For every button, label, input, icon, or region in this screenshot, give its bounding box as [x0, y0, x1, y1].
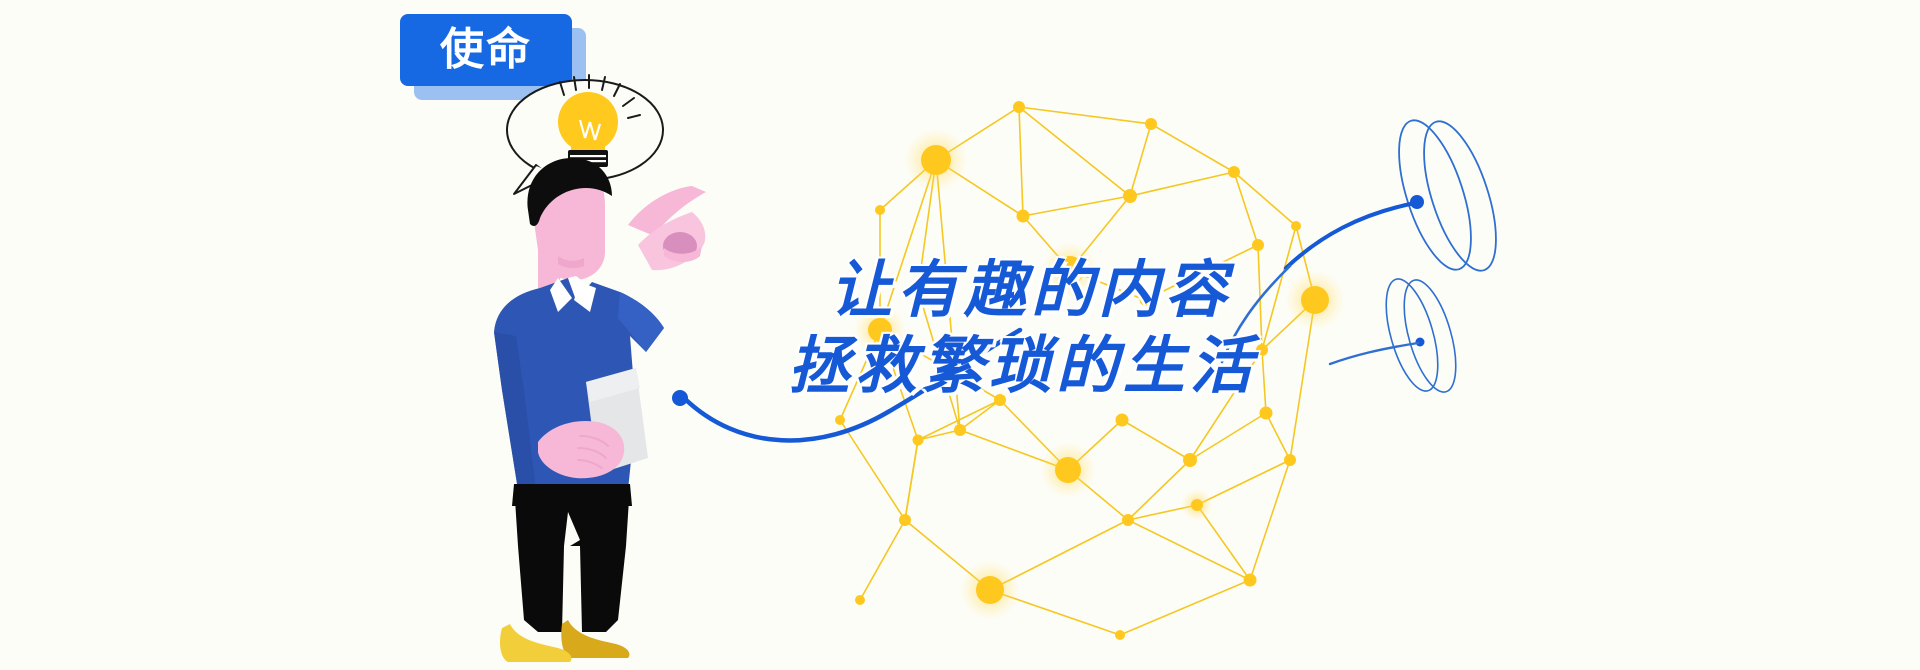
trousers — [512, 484, 632, 632]
pointing-arm — [628, 186, 706, 270]
man-pointing-illustration — [440, 60, 760, 670]
headline-line-1: 让有趣的内容 — [830, 252, 1530, 328]
mission-banner: 使命 — [0, 0, 1920, 670]
headline: 让有趣的内容 拯救繁琐的生活 — [830, 252, 1530, 404]
headline-line-2: 拯救繁琐的生活 — [788, 328, 1530, 404]
